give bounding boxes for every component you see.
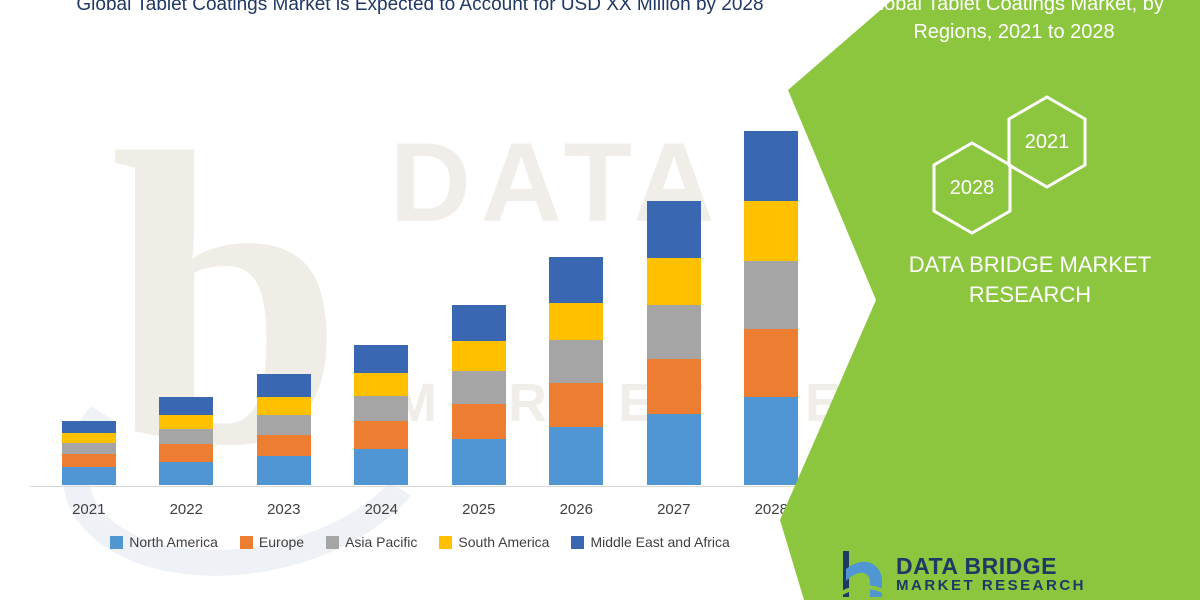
chart-plot-area <box>40 90 820 485</box>
bar-segment <box>354 396 408 421</box>
brand-logo-line2: MARKET RESEARCH <box>896 578 1086 594</box>
bar-segment <box>744 201 798 261</box>
bar-segment <box>62 467 116 485</box>
bar-column <box>647 90 701 485</box>
bar-column <box>549 90 603 485</box>
x-axis-line <box>30 486 820 487</box>
bar-column <box>257 90 311 485</box>
hexagon-badge-2021: 2021 <box>1005 94 1089 190</box>
brand-logo: DATA BRIDGE MARKET RESEARCH <box>840 548 1200 600</box>
bar-segment <box>257 435 311 457</box>
x-axis-tick-label: 2025 <box>452 501 506 518</box>
bar-segment <box>647 258 701 305</box>
bar-segment <box>549 427 603 485</box>
legend-swatch-icon <box>110 536 123 549</box>
bar-segment <box>257 397 311 415</box>
panel-brand-name: DATA BRIDGE MARKET RESEARCH <box>880 250 1180 310</box>
x-axis-tick-label: 2027 <box>647 501 701 518</box>
bar-segment <box>452 439 506 485</box>
stacked-bar-group <box>40 90 820 485</box>
panel-title: Global Tablet Coatings Market, by Region… <box>828 0 1200 46</box>
bar-segment <box>744 397 798 485</box>
brand-logo-line1: DATA BRIDGE <box>896 554 1086 578</box>
legend-swatch-icon <box>439 536 452 549</box>
bar-column <box>744 90 798 485</box>
bar-segment <box>744 131 798 201</box>
legend-label: Europe <box>259 534 304 550</box>
bar-segment <box>452 371 506 404</box>
hexagon-badge-2028-label: 2028 <box>930 140 1014 236</box>
legend-item[interactable]: Asia Pacific <box>326 534 417 550</box>
bar-segment <box>354 421 408 448</box>
hexagon-badge-2028: 2028 <box>930 140 1014 236</box>
legend-label: South America <box>458 534 549 550</box>
x-axis-tick-labels: 20212022202320242025202620272028 <box>40 494 820 524</box>
x-axis-tick-label: 2022 <box>159 501 213 518</box>
bar-segment <box>159 415 213 429</box>
bar-segment <box>452 341 506 371</box>
bar-segment <box>257 415 311 435</box>
bar-segment <box>62 421 116 433</box>
bar-segment <box>159 429 213 444</box>
bar-segment <box>257 456 311 485</box>
bar-segment <box>452 305 506 341</box>
bar-segment <box>159 462 213 485</box>
legend-label: Middle East and Africa <box>590 534 729 550</box>
bar-segment <box>744 261 798 329</box>
bar-segment <box>549 340 603 383</box>
x-axis-tick-label: 2026 <box>549 501 603 518</box>
legend-label: Asia Pacific <box>345 534 417 550</box>
chart-legend: North AmericaEuropeAsia PacificSouth Ame… <box>0 534 840 550</box>
legend-swatch-icon <box>240 536 253 549</box>
legend-item[interactable]: North America <box>110 534 218 550</box>
bridge-logo-icon <box>840 549 886 599</box>
bar-segment <box>647 201 701 258</box>
bar-segment <box>647 414 701 485</box>
bar-segment <box>62 433 116 443</box>
bar-segment <box>354 345 408 374</box>
legend-label: North America <box>129 534 218 550</box>
bar-segment <box>354 373 408 396</box>
bar-column <box>62 90 116 485</box>
legend-item[interactable]: Middle East and Africa <box>571 534 729 550</box>
legend-swatch-icon <box>326 536 339 549</box>
bar-segment <box>744 329 798 397</box>
bar-column <box>159 90 213 485</box>
bar-segment <box>159 444 213 462</box>
hexagon-badge-2021-label: 2021 <box>1005 94 1089 190</box>
bar-segment <box>549 303 603 340</box>
bar-segment <box>257 374 311 397</box>
bar-segment <box>354 449 408 485</box>
page-title: Global Tablet Coatings Market is Expecte… <box>0 0 840 20</box>
legend-item[interactable]: South America <box>439 534 549 550</box>
x-axis-tick-label: 2023 <box>257 501 311 518</box>
bar-segment <box>647 359 701 414</box>
bar-segment <box>62 443 116 454</box>
bar-segment <box>647 305 701 359</box>
legend-item[interactable]: Europe <box>240 534 304 550</box>
bar-segment <box>452 404 506 439</box>
bar-column <box>452 90 506 485</box>
bar-segment <box>549 383 603 427</box>
bar-segment <box>159 397 213 415</box>
legend-swatch-icon <box>571 536 584 549</box>
bar-segment <box>549 257 603 303</box>
brand-logo-text: DATA BRIDGE MARKET RESEARCH <box>896 554 1086 594</box>
bar-column <box>354 90 408 485</box>
x-axis-tick-label: 2021 <box>62 501 116 518</box>
x-axis-tick-label: 2024 <box>354 501 408 518</box>
bar-segment <box>62 454 116 467</box>
